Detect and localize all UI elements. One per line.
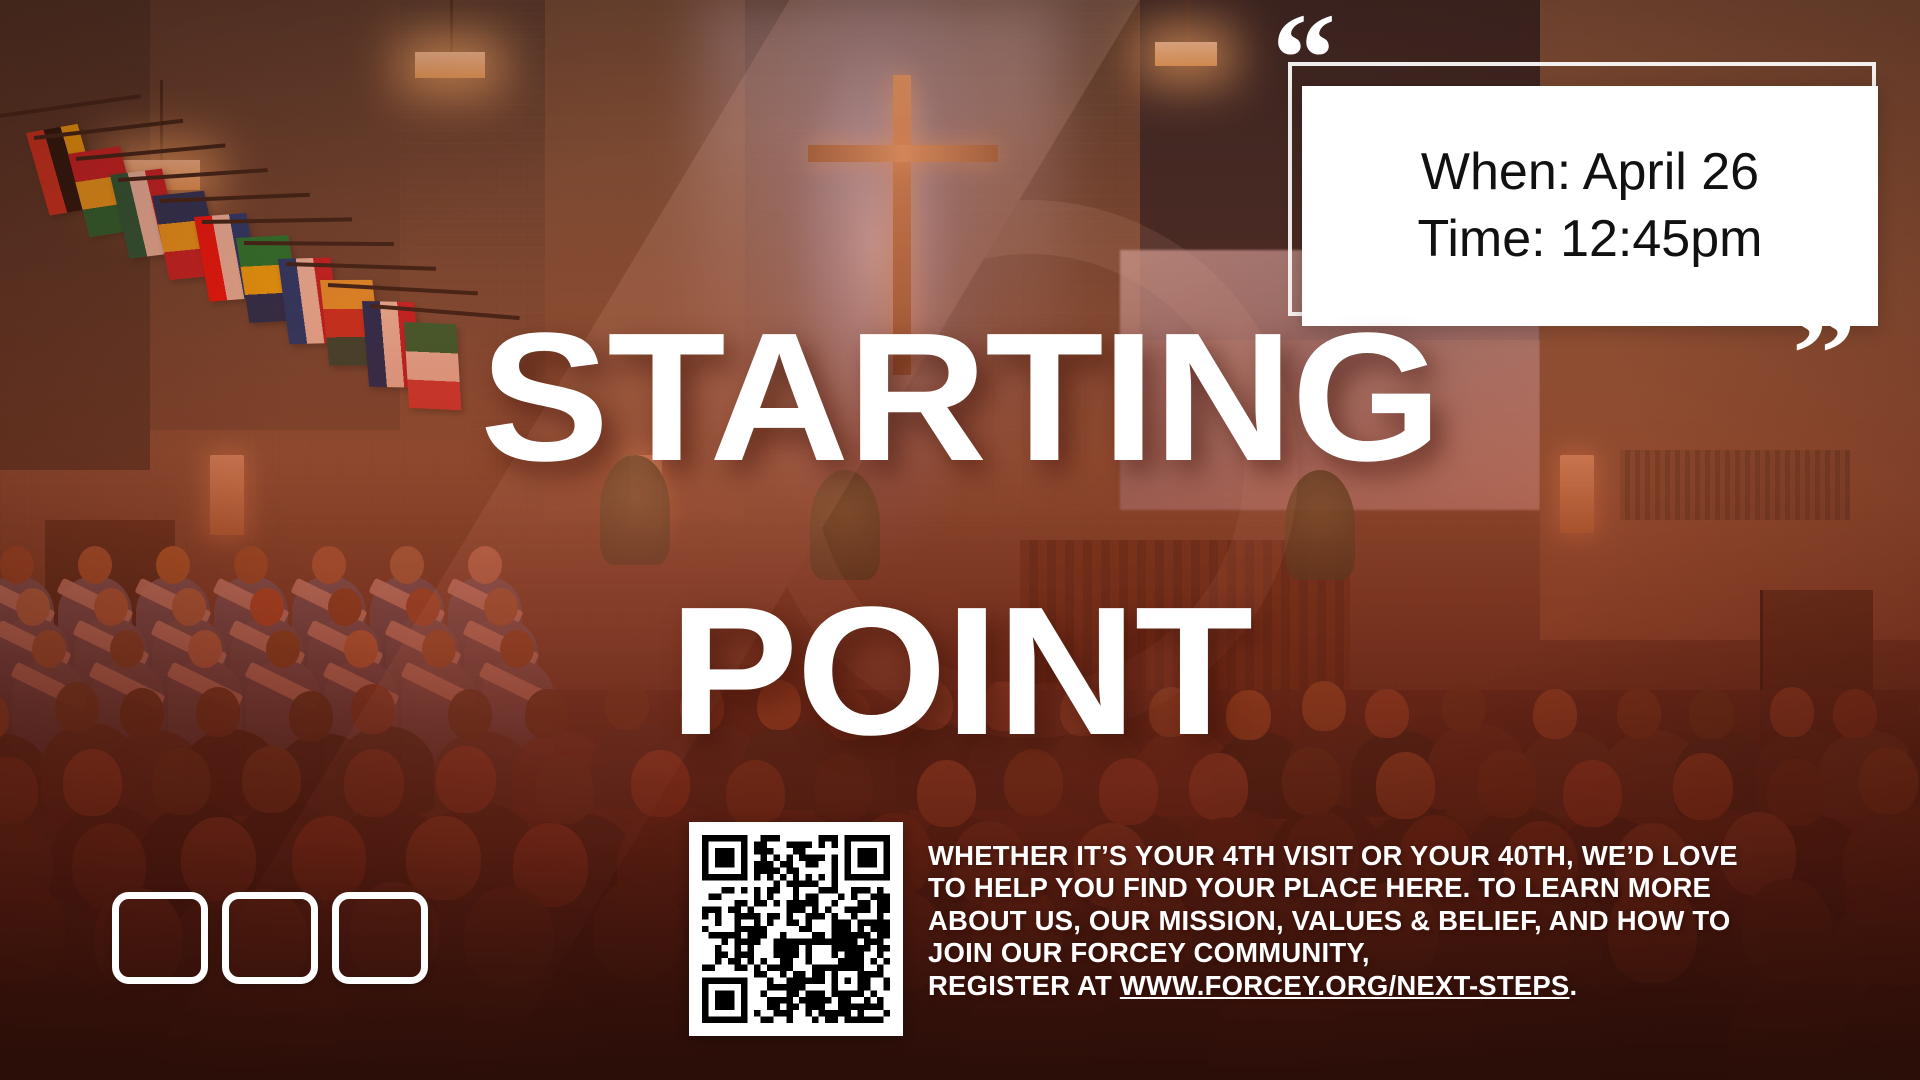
register-suffix: .	[1569, 970, 1577, 1001]
registration-url[interactable]: WWW.FORCEY.ORG/NEXT-STEPS	[1120, 970, 1570, 1001]
qr-code-image	[702, 835, 890, 1023]
title-line-2: POINT	[0, 592, 1920, 749]
title-line-1: STARTING	[0, 318, 1920, 475]
event-date: When: April 26	[1421, 139, 1759, 206]
body-line-5: REGISTER AT WWW.FORCEY.ORG/NEXT-STEPS.	[928, 970, 1818, 1002]
qr-code[interactable]	[689, 822, 903, 1036]
event-time: Time: 12:45pm	[1418, 206, 1763, 273]
body-line-3: ABOUT US, OUR MISSION, VALUES & BELIEF, …	[928, 905, 1818, 937]
body-line-2: TO HELP YOU FIND YOUR PLACE HERE. TO LEA…	[928, 872, 1818, 904]
body-copy: WHETHER IT’S YOUR 4TH VISIT OR YOUR 40TH…	[928, 840, 1818, 1002]
logo-square-3	[332, 892, 428, 984]
body-line-1: WHETHER IT’S YOUR 4TH VISIT OR YOUR 40TH…	[928, 840, 1818, 872]
logo-square-1	[112, 892, 208, 984]
forcey-logo	[112, 892, 428, 984]
slide-canvas: “ When: April 26 Time: 12:45pm ” STARTIN…	[0, 0, 1920, 1080]
logo-square-2	[222, 892, 318, 984]
body-line-4: JOIN OUR FORCEY COMMUNITY,	[928, 937, 1818, 969]
register-prefix: REGISTER AT	[928, 970, 1120, 1001]
